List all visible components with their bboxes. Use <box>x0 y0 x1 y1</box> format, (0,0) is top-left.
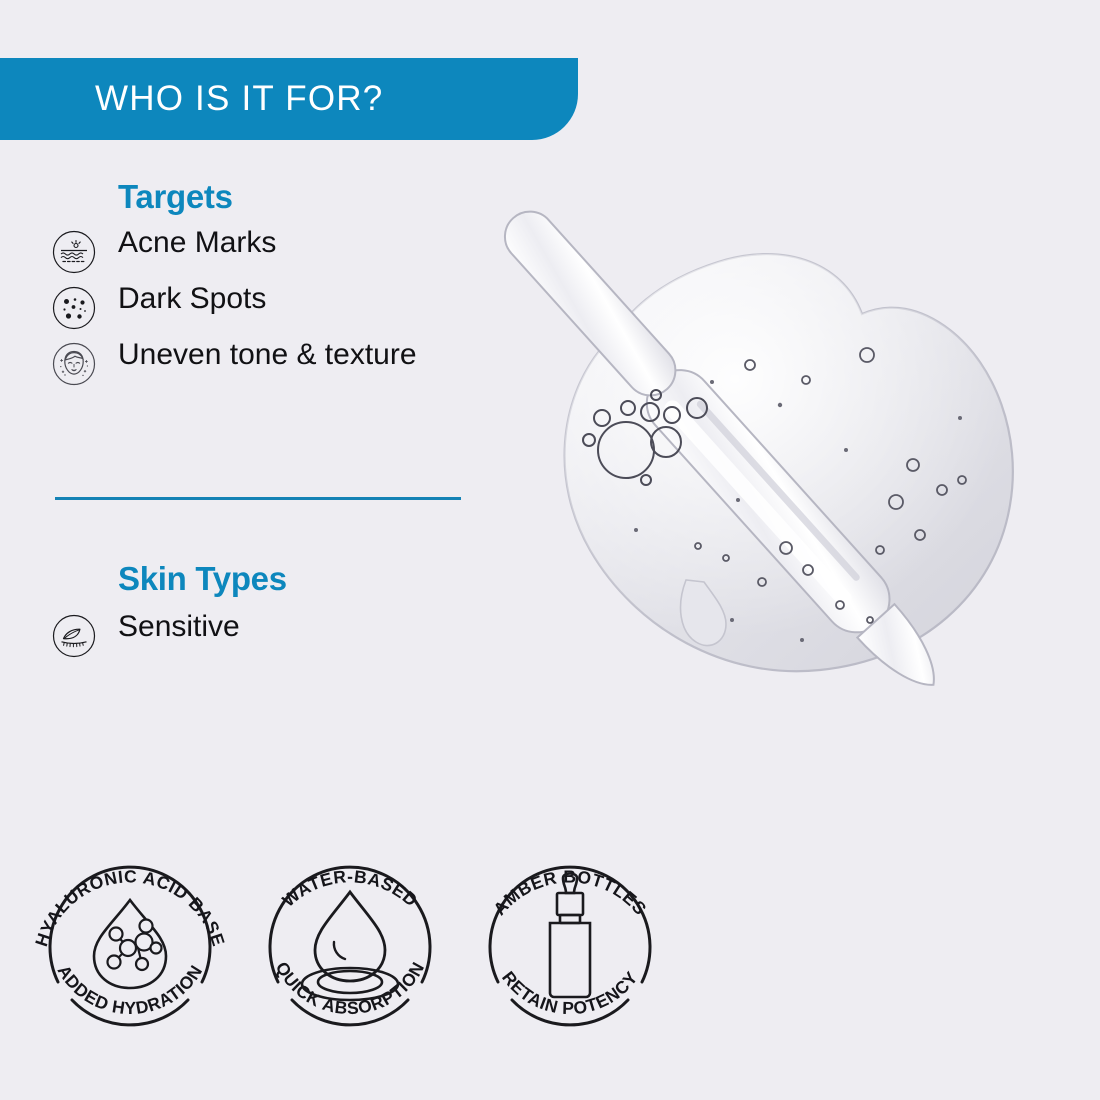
badge-hyaluronic-acid: HYALURONIC ACID BASE ADDED HYDRATION <box>20 832 240 1042</box>
targets-section: Targets <box>0 178 500 392</box>
badge-bottom-text: RETAIN POTENCY <box>498 967 642 1018</box>
sensitive-skin-icon <box>52 614 96 658</box>
page-title: WHO IS IT FOR? <box>0 79 383 119</box>
serum-swatch-photo <box>450 150 1100 810</box>
list-item-label: Dark Spots <box>118 280 266 318</box>
badge-water-based: WATER-BASED QUICK ABSORPTION <box>240 832 460 1042</box>
targets-heading: Targets <box>118 178 500 216</box>
skin-types-heading: Skin Types <box>118 560 500 598</box>
uneven-tone-icon <box>52 342 96 386</box>
list-item-label: Acne Marks <box>118 224 276 262</box>
list-item: Acne Marks <box>0 224 500 280</box>
section-divider <box>55 497 461 500</box>
badge-top-text: HYALURONIC ACID BASE <box>31 866 229 948</box>
badge-amber-bottles: AMBER BOTTLES RETAIN POTENCY <box>460 832 680 1042</box>
list-item: Uneven tone & texture <box>0 336 500 392</box>
acne-marks-icon <box>52 230 96 274</box>
list-item: Dark Spots <box>0 280 500 336</box>
list-item-label: Sensitive <box>118 608 240 646</box>
dark-spots-icon <box>52 286 96 330</box>
list-item: Sensitive <box>0 608 500 664</box>
skin-types-list: Sensitive <box>0 608 500 664</box>
dropper-bottle-icon <box>550 874 590 998</box>
droplet-ripple-icon <box>302 892 398 1000</box>
droplet-molecule-icon <box>94 900 166 988</box>
skin-types-section: Skin Types <box>0 560 500 664</box>
list-item-label: Uneven tone & texture <box>118 336 417 374</box>
badges-row: HYALURONIC ACID BASE ADDED HYDRATION <box>20 832 720 1042</box>
targets-list: Acne Marks <box>0 224 500 392</box>
badge-bottom-text: ADDED HYDRATION <box>54 961 207 1018</box>
badge-top-text: WATER-BASED <box>278 866 421 910</box>
header-banner: WHO IS IT FOR? <box>0 58 578 140</box>
